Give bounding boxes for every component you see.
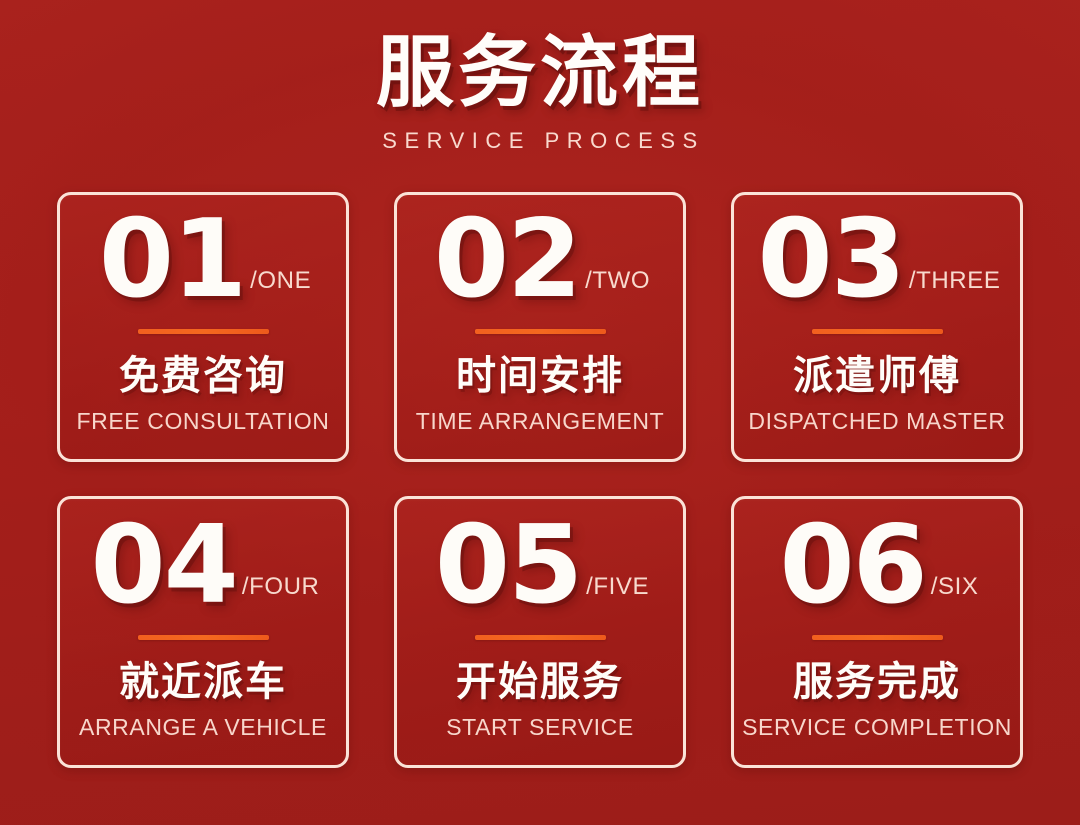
step-number: 02 — [434, 209, 580, 311]
step-label-en: SERVICE COMPLETION — [742, 715, 1012, 740]
process-step-card-01[interactable]: 01 /ONE 免费咨询 FREE CONSULTATION — [57, 192, 349, 462]
process-step-card-04[interactable]: 04 /FOUR 就近派车 ARRANGE A VEHICLE — [57, 496, 349, 768]
accent-divider — [812, 329, 943, 334]
page-title: 服务流程 — [0, 34, 1080, 114]
accent-divider — [475, 329, 606, 334]
step-number-row: 01 /ONE — [60, 209, 346, 311]
step-number-row: 05 /FIVE — [397, 515, 683, 617]
accent-divider — [475, 635, 606, 640]
page-header: 服务流程 SERVICE PROCESS — [0, 0, 1080, 154]
step-label-en: START SERVICE — [446, 715, 634, 740]
step-label-cn: 免费咨询 — [119, 354, 287, 399]
accent-divider — [138, 329, 269, 334]
accent-divider — [138, 635, 269, 640]
step-label-cn: 时间安排 — [456, 354, 624, 399]
step-numeral-word: /FIVE — [586, 573, 649, 601]
process-step-card-06[interactable]: 06 /SIX 服务完成 SERVICE COMPLETION — [731, 496, 1023, 768]
step-label-en: TIME ARRANGEMENT — [416, 409, 665, 434]
step-numeral-word: /TWO — [585, 267, 650, 295]
step-number: 01 — [99, 209, 245, 311]
step-label-en: DISPATCHED MASTER — [748, 409, 1005, 434]
step-number: 03 — [758, 209, 904, 311]
step-label-cn: 派遣师傅 — [793, 354, 961, 399]
step-number-row: 02 /TWO — [397, 209, 683, 311]
page-subtitle: SERVICE PROCESS — [0, 128, 1080, 154]
step-number-row: 03 /THREE — [734, 209, 1020, 311]
process-step-card-05[interactable]: 05 /FIVE 开始服务 START SERVICE — [394, 496, 686, 768]
step-number-row: 06 /SIX — [734, 515, 1020, 617]
step-numeral-word: /ONE — [250, 267, 311, 295]
step-number: 06 — [779, 515, 925, 617]
step-label-cn: 就近派车 — [119, 660, 287, 705]
step-number-row: 04 /FOUR — [60, 515, 346, 617]
process-step-card-02[interactable]: 02 /TWO 时间安排 TIME ARRANGEMENT — [394, 192, 686, 462]
step-numeral-word: /FOUR — [242, 573, 320, 601]
service-process-grid: 01 /ONE 免费咨询 FREE CONSULTATION 02 /TWO 时… — [57, 192, 1023, 768]
step-label-en: FREE CONSULTATION — [77, 409, 330, 434]
accent-divider — [812, 635, 943, 640]
step-numeral-word: /SIX — [931, 573, 979, 601]
step-number: 04 — [91, 515, 237, 617]
step-numeral-word: /THREE — [909, 267, 1001, 295]
step-label-cn: 开始服务 — [456, 660, 624, 705]
process-step-card-03[interactable]: 03 /THREE 派遣师傅 DISPATCHED MASTER — [731, 192, 1023, 462]
step-label-en: ARRANGE A VEHICLE — [79, 715, 327, 740]
step-number: 05 — [435, 515, 581, 617]
step-label-cn: 服务完成 — [793, 660, 961, 705]
